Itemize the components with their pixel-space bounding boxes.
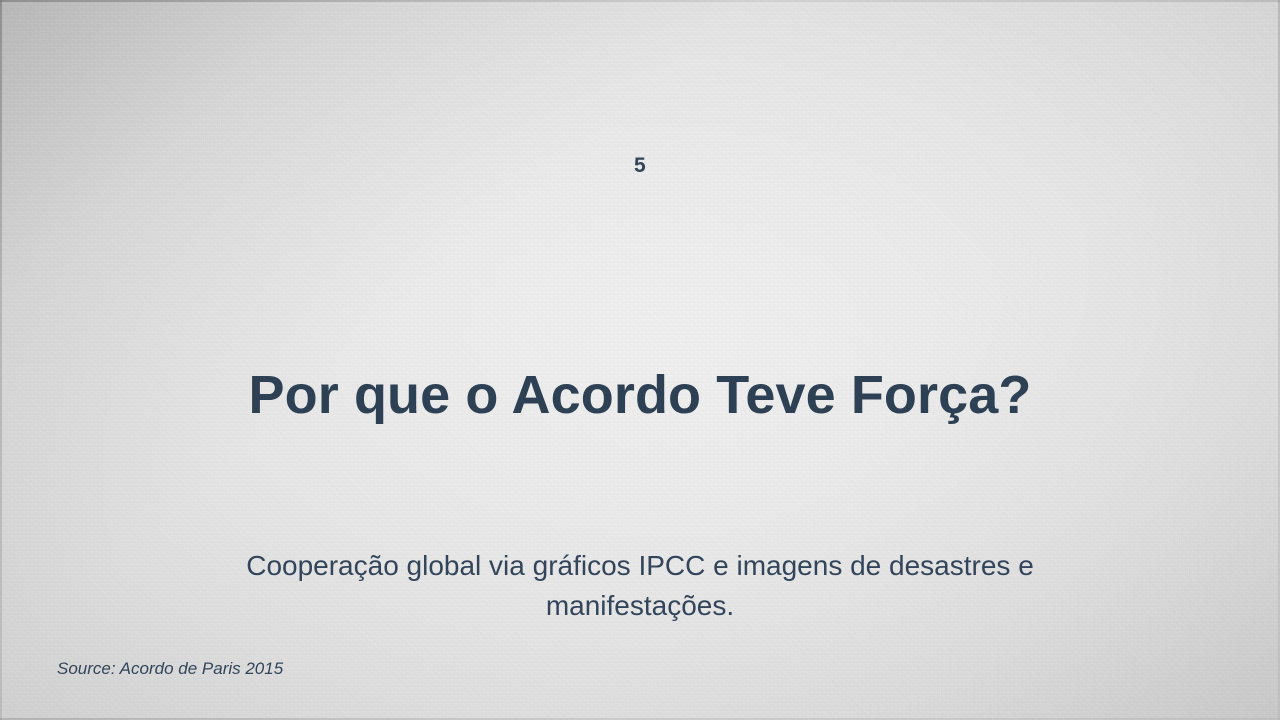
slide-content: 5 Por que o Acordo Teve Força? Cooperaçã…: [0, 0, 1280, 720]
slide-number: 5: [0, 155, 1280, 176]
slide-source-note: Source: Acordo de Paris 2015: [57, 659, 283, 679]
presentation-slide: 5 Por que o Acordo Teve Força? Cooperaçã…: [0, 0, 1280, 720]
slide-title: Por que o Acordo Teve Força?: [90, 364, 1190, 428]
slide-subtitle: Cooperação global via gráficos IPCC e im…: [190, 546, 1090, 626]
